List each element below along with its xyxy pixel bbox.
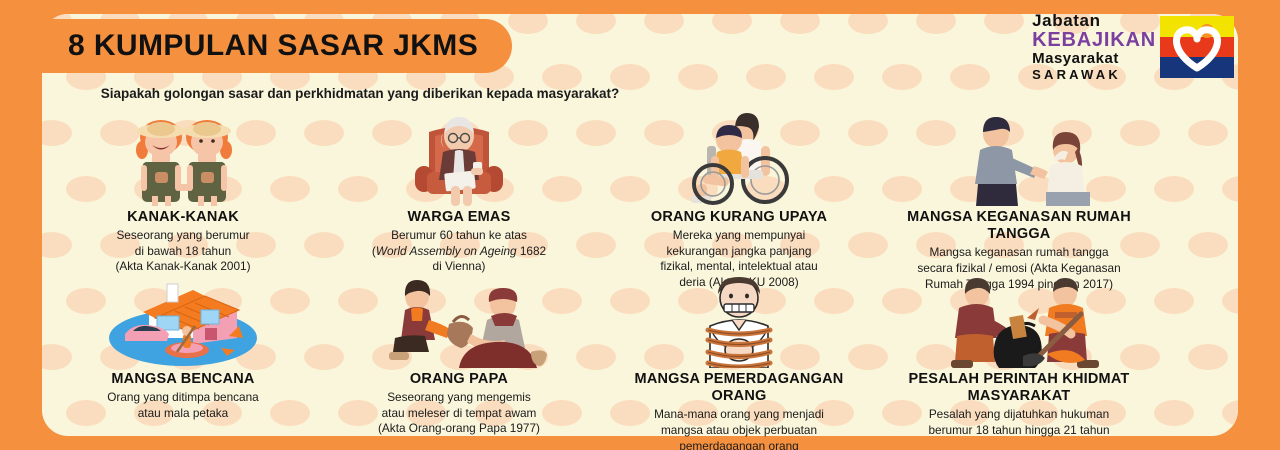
card-mangsa-pemerdagangan-orang: MANGSA PEMERDAGANGAN ORANG Mana-mana ora… (610, 272, 868, 450)
card-description: Seseorang yang berumur di bawah 18 tahun… (58, 228, 308, 275)
card-description: Mana-mana orang yang menjadi mangsa atau… (610, 407, 868, 450)
page-title: 8 KUMPULAN SASAR JKMS (68, 29, 478, 63)
background-dot (1222, 176, 1238, 202)
card-description: Berumur 60 tahun ke atas (World Assembly… (330, 228, 588, 275)
background-dot (882, 64, 922, 90)
jkms-logo: Jabatan KEBAJIKAN Masyarakat SARAWAK (1032, 12, 1234, 81)
desc-line: Mangsa keganasan rumah tangga (929, 245, 1108, 259)
card-mangsa-bencana: MANGSA BENCANA Orang yang ditimpa bencan… (58, 272, 308, 421)
desc-line: Seseorang yang berumur (116, 228, 249, 242)
background-dot (576, 14, 616, 34)
background-dot (746, 64, 786, 90)
two-children-icon (58, 110, 308, 206)
card-description: Seseorang yang mengemis atau meleser di … (330, 390, 588, 437)
card-description: Pesalah yang dijatuhkan hukuman berumur … (890, 407, 1148, 438)
desc-line: Mana-mana orang yang menjadi (654, 407, 824, 421)
heart-emblem-icon (1160, 16, 1234, 78)
card-title: MANGSA PEMERDAGANGAN ORANG (610, 371, 868, 405)
desc-line: (Akta Orang-orang Papa 1977) (378, 421, 540, 435)
logo-line-masyarakat: Masyarakat (1032, 51, 1156, 66)
background-dot (1222, 400, 1238, 426)
background-dot (508, 14, 548, 34)
desc-line: atau mala petaka (138, 406, 229, 420)
bound-person-icon (610, 272, 868, 368)
card-mangsa-keganasan-rumah-tangga: MANGSA KEGANASAN RUMAH TANGGA Mangsa keg… (890, 110, 1148, 292)
desc-line: atau meleser di tempat awam (382, 406, 537, 420)
background-dot (1188, 120, 1228, 146)
desc-line: kekurangan jangka panjang (667, 244, 812, 258)
desc-line: Berumur 60 tahun ke atas (391, 228, 527, 242)
card-title-text: PESALAH PERINTAH KHIDMAT MASYARAKAT (909, 371, 1130, 404)
background-dot (1154, 400, 1194, 426)
background-dot (950, 64, 990, 90)
card-pesalah-perintah-khidmat-masyarakat: PESALAH PERINTAH KHIDMAT MASYARAKAT Pesa… (890, 272, 1148, 439)
desc-line: pemerdagangan orang (679, 439, 798, 450)
background-dot (1154, 176, 1194, 202)
logo-wordmark: Jabatan KEBAJIKAN Masyarakat SARAWAK (1032, 12, 1156, 81)
background-dot (814, 64, 854, 90)
background-dot (712, 14, 752, 34)
card-title: KANAK-KANAK (58, 209, 308, 226)
desc-line: Mereka yang mempunyai (673, 228, 805, 242)
giving-to-homeless-icon (330, 272, 588, 368)
card-title: ORANG KURANG UPAYA (610, 209, 868, 226)
desc-line: Pesalah yang dijatuhkan hukuman (929, 407, 1109, 421)
logo-line-sarawak: SARAWAK (1032, 68, 1156, 81)
card-orang-papa: ORANG PAPA Seseorang yang mengemis atau … (330, 272, 588, 437)
background-dot (678, 64, 718, 90)
desc-line: berumur 18 tahun hingga 21 tahun (928, 423, 1109, 437)
card-title: MANGSA KEGANASAN RUMAH TANGGA (890, 209, 1148, 243)
background-dot (848, 14, 888, 34)
background-dot (1188, 344, 1228, 370)
domestic-violence-icon (890, 110, 1148, 206)
desc-line: di bawah 18 tahun (135, 244, 231, 258)
card-title: MANGSA BENCANA (58, 371, 308, 388)
community-service-icon (890, 272, 1148, 368)
card-kanak-kanak: KANAK-KANAK Seseorang yang berumur di ba… (58, 110, 308, 275)
background-dot (644, 14, 684, 34)
flooded-house-icon (58, 272, 308, 368)
card-warga-emas: WARGA EMAS Berumur 60 tahun ke atas (Wor… (330, 110, 588, 275)
background-dot (780, 14, 820, 34)
card-title: ORANG PAPA (330, 371, 588, 388)
logo-line-jabatan: Jabatan (1032, 12, 1156, 29)
heart-shape (1167, 22, 1227, 72)
desc-line: Seseorang yang mengemis (387, 390, 531, 404)
elderly-woman-armchair-icon (330, 110, 588, 206)
card-title-text: MANGSA KEGANASAN RUMAH TANGGA (907, 209, 1131, 242)
card-description: Orang yang ditimpa bencana atau mala pet… (58, 390, 308, 421)
background-dot (1188, 232, 1228, 258)
subtitle-question: Siapakah golongan sasar dan perkhidmatan… (60, 84, 660, 104)
desc-line: Orang yang ditimpa bencana (107, 390, 259, 404)
title-banner: 8 KUMPULAN SASAR JKMS (42, 19, 512, 73)
card-orang-kurang-upaya: ORANG KURANG UPAYA Mereka yang mempunyai… (610, 110, 868, 291)
card-title: PESALAH PERINTAH KHIDMAT MASYARAKAT (890, 371, 1148, 405)
desc-line-italic: (World Assembly on Ageing 1682 (372, 244, 546, 258)
italic-text: World Assembly on Ageing (376, 244, 517, 258)
wheelchair-person-icon (610, 110, 868, 206)
background-dot (984, 14, 1024, 34)
card-title: WARGA EMAS (330, 209, 588, 226)
desc-line: mangsa atau objek perbuatan (661, 423, 817, 437)
background-dot (916, 14, 956, 34)
background-dot (1154, 288, 1194, 314)
logo-line-kebajikan: KEBAJIKAN (1032, 30, 1156, 50)
background-dot (1222, 288, 1238, 314)
